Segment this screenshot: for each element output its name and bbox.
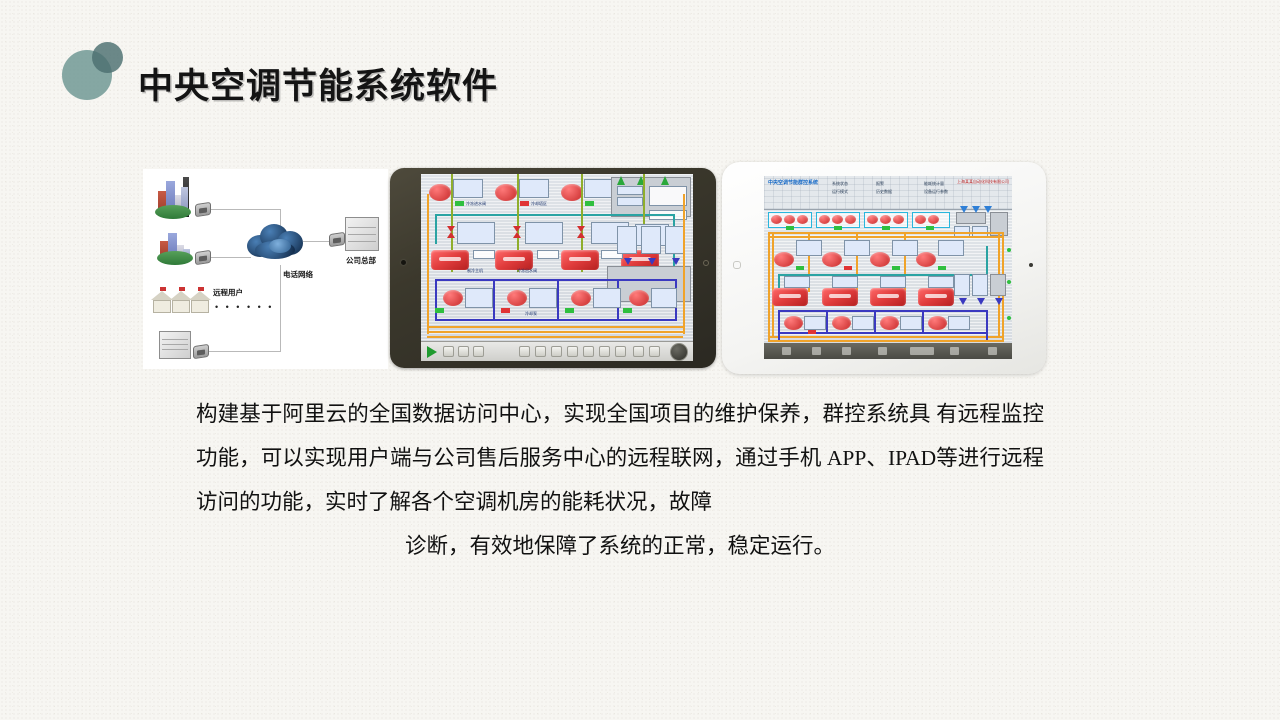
status-chip-1 <box>455 201 464 206</box>
ahu-fan-6[interactable] <box>845 215 856 224</box>
wt-toolbar-icon-4[interactable] <box>878 347 887 355</box>
image-strip: 远程用户 • • • • • • 电话网络 公司总部 冷冻进水阀 冷却塔区 <box>0 160 1280 375</box>
mid-param-box-2[interactable] <box>525 222 563 244</box>
houses-group-icon <box>151 291 215 317</box>
white-tablet-toolbar[interactable] <box>764 343 1012 359</box>
toolbar-icon-9[interactable] <box>599 346 610 357</box>
wt-ct-chip-2 <box>844 266 852 270</box>
side-lamp-3 <box>1007 316 1011 320</box>
wt-ct-pump-4[interactable] <box>916 252 936 267</box>
wt-chw-readout-3[interactable] <box>900 316 922 330</box>
blue-loop-left <box>435 279 437 321</box>
logo-circle-small-icon <box>92 42 123 73</box>
ahu-fan-7[interactable] <box>867 215 878 224</box>
gauge-column-1[interactable] <box>617 226 637 254</box>
chilled-pump-2[interactable] <box>507 290 527 306</box>
wt-gauge-1[interactable] <box>954 274 970 296</box>
workstation-icon <box>159 331 191 359</box>
ahu-fan-3[interactable] <box>797 215 808 224</box>
label-company-hq: 公司总部 <box>346 255 376 266</box>
toolbar-icon-4[interactable] <box>519 346 530 357</box>
ahu-fan-2[interactable] <box>784 215 795 224</box>
network-topology-diagram: 远程用户 • • • • • • 电话网络 公司总部 <box>143 169 388 369</box>
paragraph-line-4: 诊断，有效地保障了系统的正常，稳定运行。 <box>196 524 1044 568</box>
orange-loop-2 <box>427 331 683 333</box>
chiller-unit-3[interactable] <box>561 250 599 270</box>
pump-status-chip-2 <box>501 308 510 313</box>
wt-ct-readout-2[interactable] <box>844 240 870 256</box>
label-chilled-inlet-valve: 冷冻进水阀 <box>466 201 486 207</box>
wt-orange-bot1 <box>770 336 1002 338</box>
label-chilled-outlet-valve: 冷冻出水阀 <box>517 268 537 274</box>
cooling-tower-pump-1[interactable] <box>429 184 451 201</box>
flow-arrow-1 <box>624 258 632 265</box>
chiller-readout-1[interactable] <box>473 250 495 259</box>
scada-toolbar[interactable] <box>421 341 693 361</box>
home-button-icon-white[interactable] <box>1029 263 1033 267</box>
ahu-fan-8[interactable] <box>880 215 891 224</box>
wt-blue-right <box>986 310 988 340</box>
wt-orange-bot2 <box>770 340 1002 342</box>
wt-chw-readout-1[interactable] <box>804 316 826 330</box>
toolbar-icon-6[interactable] <box>551 346 562 357</box>
pump-status-chip-1 <box>435 308 444 313</box>
wt-chw-pump-1[interactable] <box>784 316 803 330</box>
wt-chiller-readout-4[interactable] <box>928 276 954 288</box>
wt-orange-left <box>768 232 770 342</box>
front-camera-icon <box>401 260 406 265</box>
wt-blue-branch-3 <box>922 310 924 332</box>
teal-header-pipe-1 <box>435 214 675 216</box>
flow-arrow-3 <box>672 258 680 265</box>
blue-loop-bottom <box>435 319 677 321</box>
wt-ct-readout-3[interactable] <box>892 240 918 256</box>
status-chip-2 <box>520 201 529 206</box>
toolbar-icon-3[interactable] <box>473 346 484 357</box>
toolbar-dial-icon[interactable] <box>670 343 688 361</box>
header-cell-6: 设备运行参数 <box>924 189 948 195</box>
ahu-fan-1[interactable] <box>771 215 782 224</box>
ahu-status-2 <box>834 226 842 230</box>
chiller-unit-2[interactable] <box>495 250 533 270</box>
page-title: 中央空调节能系统软件 <box>138 58 498 109</box>
wt-ct-pump-2[interactable] <box>822 252 842 267</box>
toolbar-icon-2[interactable] <box>458 346 469 357</box>
gauge-column-2[interactable] <box>641 226 661 254</box>
info-field-c[interactable] <box>649 186 687 206</box>
wt-blue-branch-1 <box>826 310 828 332</box>
wt-chiller-readout-2[interactable] <box>832 276 858 288</box>
wt-toolbar-icon-3[interactable] <box>842 347 851 355</box>
wt-ct-readout-4[interactable] <box>938 240 964 256</box>
toolbar-icon-12[interactable] <box>649 346 660 357</box>
tree-icon-3 <box>661 176 669 185</box>
wt-chw-chip-1 <box>808 330 816 334</box>
pump-status-chip-4 <box>623 308 632 313</box>
pump-status-chip-3 <box>565 308 574 313</box>
label-cooling-pump: 冷却泵 <box>525 311 537 317</box>
chiller-unit-1[interactable] <box>431 250 469 270</box>
wt-gauge-3[interactable] <box>990 274 1006 296</box>
orange-riser-left <box>427 194 429 334</box>
front-camera-icon-white <box>733 261 741 269</box>
header-cell-2: 运行模式 <box>832 189 848 195</box>
wt-ct-pump-3[interactable] <box>870 252 890 267</box>
right-arrow-3 <box>984 206 992 213</box>
wt-ct-chip-1 <box>796 266 804 270</box>
pump-readout-3[interactable] <box>593 288 621 308</box>
side-lamp-2 <box>1007 280 1011 284</box>
label-remote-users: 远程用户 <box>213 287 243 298</box>
wt-teal-left <box>778 274 780 288</box>
right-arrow-2 <box>972 206 980 213</box>
header-cell-4: 历史数据 <box>876 189 892 195</box>
wt-ct-chip-3 <box>892 266 900 270</box>
wt-orange-2 <box>770 236 1002 238</box>
wt-gauge-2[interactable] <box>972 274 988 296</box>
param-box-3[interactable] <box>584 179 614 198</box>
wt-flow-arrow-3 <box>995 298 1003 305</box>
label-telephone-network: 电话网络 <box>283 269 313 280</box>
tree-icon-1 <box>617 176 625 185</box>
run-button-icon[interactable] <box>427 346 437 358</box>
wt-chw-readout-4[interactable] <box>948 316 970 330</box>
chilled-pump-3[interactable] <box>571 290 591 306</box>
valve-icon-3b[interactable] <box>577 232 585 238</box>
orange-loop-3 <box>427 336 683 338</box>
toolbar-icon-7[interactable] <box>567 346 578 357</box>
description-paragraph: 构建基于阿里云的全国数据访问中心，实现全国项目的维护保养，群控系统具 有远程监控… <box>196 392 1044 568</box>
header-cell-5: 能耗统计量 <box>924 181 944 187</box>
gauge-column-3[interactable] <box>665 226 685 254</box>
link-line-site1 <box>203 209 281 210</box>
ahu-status-1 <box>786 226 794 230</box>
label-ellipsis: • • • • • • <box>215 302 274 312</box>
pump-readout-4[interactable] <box>651 288 677 308</box>
white-tablet-device: 中央空调节能群控系统 上海某某自动化科技有限公司 系统状态 运行模式 报警 历史… <box>722 162 1046 374</box>
link-line-site4-vert <box>280 265 281 352</box>
wt-ct-pump-1[interactable] <box>774 252 794 267</box>
wt-orange-left2 <box>772 232 774 338</box>
label-chiller-main: 制冷主机 <box>467 268 483 274</box>
wt-chiller-4[interactable] <box>918 288 954 306</box>
router-icon-4 <box>193 344 209 359</box>
wt-toolbar-icon-6[interactable] <box>988 347 997 355</box>
company-hq-server-icon <box>345 217 379 251</box>
pump-readout-2[interactable] <box>529 288 557 308</box>
orange-riser-right <box>683 194 685 334</box>
scada-system-logo: 中央空调节能群控系统 <box>768 179 818 186</box>
status-chip-3 <box>585 201 594 206</box>
ahu-fan-4[interactable] <box>819 215 830 224</box>
wt-chiller-readout-1[interactable] <box>784 276 810 288</box>
wt-toolbar-icon-2[interactable] <box>812 347 821 355</box>
wt-chiller-1[interactable] <box>772 288 808 306</box>
right-arrow-1 <box>960 206 968 213</box>
flow-arrow-2 <box>648 258 656 265</box>
building-group-1-icon <box>155 179 191 219</box>
scada-screen-white-tablet[interactable]: 中央空调节能群控系统 上海某某自动化科技有限公司 系统状态 运行模式 报警 历史… <box>764 176 1012 359</box>
page-header: 中央空调节能系统软件 <box>0 0 1280 140</box>
wt-chw-pump-3[interactable] <box>880 316 899 330</box>
mid-param-box-1[interactable] <box>457 222 495 244</box>
info-field-b[interactable] <box>617 197 643 206</box>
blue-branch-1 <box>493 279 495 321</box>
right-panel-1[interactable] <box>956 212 986 224</box>
toolbar-icon-5[interactable] <box>535 346 546 357</box>
orange-loop-1 <box>427 326 683 328</box>
header-cell-1: 系统状态 <box>832 181 848 187</box>
toolbar-icon-10[interactable] <box>615 346 626 357</box>
info-field-a[interactable] <box>617 186 643 195</box>
valve-icon-2b[interactable] <box>513 232 521 238</box>
valve-icon-1b[interactable] <box>447 232 455 238</box>
ahu-status-4 <box>926 226 934 230</box>
side-lamp-1 <box>1007 248 1011 252</box>
teal-riser-1 <box>435 214 437 244</box>
scada-screen-black-tablet[interactable]: 冷冻进水阀 冷却塔区 <box>421 174 693 361</box>
chiller-readout-2[interactable] <box>537 250 559 259</box>
ahu-fan-10[interactable] <box>915 215 926 224</box>
ahu-fan-9[interactable] <box>893 215 904 224</box>
toolbar-icon-11[interactable] <box>633 346 644 357</box>
wt-chiller-3[interactable] <box>870 288 906 306</box>
wt-blue-top <box>778 310 988 312</box>
link-line-site4 <box>203 351 281 352</box>
wt-toolbar-keypad-icon[interactable] <box>910 347 934 355</box>
building-group-2-icon <box>157 229 193 265</box>
ahu-status-3 <box>882 226 890 230</box>
chilled-pump-4[interactable] <box>629 290 649 306</box>
wt-flow-arrow-2 <box>977 298 985 305</box>
router-icon-2 <box>195 250 211 265</box>
wt-blue-left <box>778 310 780 340</box>
param-box-1[interactable] <box>453 179 483 198</box>
wt-chiller-readout-3[interactable] <box>880 276 906 288</box>
cooling-tower-pump-2[interactable] <box>495 184 517 201</box>
overlapping-circles-logo <box>62 42 124 104</box>
param-box-2[interactable] <box>519 179 549 198</box>
black-tablet-device: 冷冻进水阀 冷却塔区 <box>390 168 716 368</box>
router-icon-hq <box>329 232 345 247</box>
scada-header-table: 中央空调节能群控系统 上海某某自动化科技有限公司 系统状态 运行模式 报警 历史… <box>764 176 1012 210</box>
header-cell-3: 报警 <box>876 181 884 187</box>
paragraph-line-1: 构建基于阿里云的全国数据访问中心，实现全国项目的维护保养，群控系统具 <box>196 402 931 426</box>
wt-ct-chip-4 <box>938 266 946 270</box>
ahu-fan-5[interactable] <box>832 215 843 224</box>
toolbar-icon-8[interactable] <box>583 346 594 357</box>
wt-toolbar-icon-5[interactable] <box>950 347 959 355</box>
wt-chiller-2[interactable] <box>822 288 858 306</box>
wt-flow-arrow-1 <box>959 298 967 305</box>
wt-chw-readout-2[interactable] <box>852 316 874 330</box>
wt-ct-readout-1[interactable] <box>796 240 822 256</box>
chilled-pump-1[interactable] <box>443 290 463 306</box>
pump-readout-1[interactable] <box>465 288 493 308</box>
blue-branch-2 <box>557 279 559 321</box>
toolbar-icon-1[interactable] <box>443 346 454 357</box>
wt-chw-pump-4[interactable] <box>928 316 947 330</box>
wt-orange-1 <box>770 232 1002 234</box>
telephone-network-cloud-icon <box>247 221 303 261</box>
home-button-icon[interactable] <box>703 260 709 266</box>
blue-loop-top <box>435 279 677 281</box>
router-icon-1 <box>195 202 211 217</box>
ahu-fan-11[interactable] <box>928 215 939 224</box>
wt-toolbar-icon-1[interactable] <box>782 347 791 355</box>
label-cooling-tower-zone: 冷却塔区 <box>531 201 547 207</box>
cooling-tower-pump-3[interactable] <box>561 184 583 201</box>
scada-brand-text: 上海某某自动化科技有限公司 <box>957 179 1009 184</box>
wt-blue-branch-2 <box>874 310 876 332</box>
wt-chw-pump-2[interactable] <box>832 316 851 330</box>
